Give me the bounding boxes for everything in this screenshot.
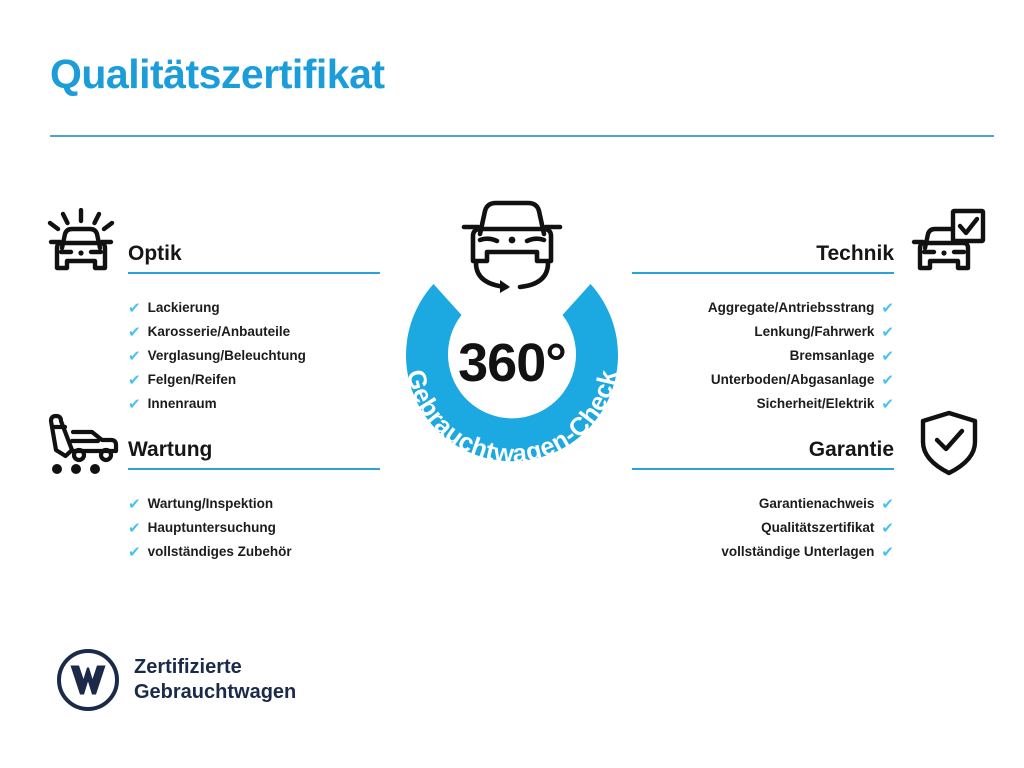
list-item-label: vollständiges Zubehör <box>148 540 292 564</box>
list-item: ✔Hauptuntersuchung <box>128 516 380 540</box>
check-icon: ✔ <box>881 545 894 560</box>
section-wartung: Wartung ✔Wartung/Inspektion ✔Hauptunters… <box>128 436 380 564</box>
check-icon: ✔ <box>881 497 894 512</box>
check-icon: ✔ <box>881 349 894 364</box>
check-icon: ✔ <box>881 397 894 412</box>
checklist-optik: ✔Lackierung ✔Karosserie/Anbauteile ✔Verg… <box>128 296 380 416</box>
list-item-label: vollständige Unterlagen <box>721 540 874 564</box>
list-item: ✔vollständiges Zubehör <box>128 540 380 564</box>
check-icon: ✔ <box>128 521 141 536</box>
list-item-label: Karosserie/Anbauteile <box>148 320 291 344</box>
list-item-label: Unterboden/Abgasanlage <box>711 368 875 392</box>
list-item: ✔Innenraum <box>128 392 380 416</box>
check-icon: ✔ <box>881 325 894 340</box>
badge-360-check: Gebrauchtwagen-Check 360° <box>378 192 646 484</box>
check-icon: ✔ <box>881 301 894 316</box>
list-item: ✔Wartung/Inspektion <box>128 492 380 516</box>
badge-value: 360° <box>378 332 646 394</box>
section-divider <box>632 272 894 274</box>
section-header: Technik <box>632 240 894 282</box>
section-divider <box>632 468 894 470</box>
check-icon: ✔ <box>128 373 141 388</box>
section-title: Technik <box>632 240 894 268</box>
section-title: Optik <box>128 240 380 268</box>
list-item: Garantienachweis✔ <box>632 492 894 516</box>
list-item-label: Innenraum <box>148 392 217 416</box>
page-title: Qualitätszertifikat <box>50 52 385 97</box>
vw-certified-label: Zertifizierte Gebrauchtwagen <box>134 655 296 705</box>
list-item: Aggregate/Antriebsstrang✔ <box>632 296 894 320</box>
list-item: Sicherheit/Elektrik✔ <box>632 392 894 416</box>
list-item: ✔Karosserie/Anbauteile <box>128 320 380 344</box>
check-icon: ✔ <box>128 301 141 316</box>
list-item-label: Bremsanlage <box>790 344 875 368</box>
section-title: Wartung <box>128 436 380 464</box>
header-divider <box>50 135 994 137</box>
list-item: Unterboden/Abgasanlage✔ <box>632 368 894 392</box>
section-divider <box>128 272 380 274</box>
check-icon: ✔ <box>128 325 141 340</box>
car-front-shine-icon <box>45 208 117 279</box>
list-item: vollständige Unterlagen✔ <box>632 540 894 564</box>
list-item: Qualitätszertifikat✔ <box>632 516 894 540</box>
checklist-wartung: ✔Wartung/Inspektion ✔Hauptuntersuchung ✔… <box>128 492 380 564</box>
list-item-label: Felgen/Reifen <box>148 368 237 392</box>
check-icon: ✔ <box>881 373 894 388</box>
vw-logo <box>56 648 120 712</box>
list-item: Bremsanlage✔ <box>632 344 894 368</box>
list-item: ✔Lackierung <box>128 296 380 320</box>
section-title: Garantie <box>632 436 894 464</box>
checklist-garantie: Garantienachweis✔ Qualitätszertifikat✔ v… <box>632 492 894 564</box>
section-header: Wartung <box>128 436 380 478</box>
list-item-label: Wartung/Inspektion <box>148 492 274 516</box>
list-item: ✔Verglasung/Beleuchtung <box>128 344 380 368</box>
shield-check-icon <box>918 410 980 481</box>
list-item-label: Sicherheit/Elektrik <box>757 392 875 416</box>
vw-certified-lockup: Zertifizierte Gebrauchtwagen <box>56 648 296 712</box>
section-optik: Optik ✔Lackierung ✔Karosserie/Anbauteile… <box>128 240 380 416</box>
check-icon: ✔ <box>128 397 141 412</box>
section-technik: Technik Aggregate/Antriebsstrang✔ Lenkun… <box>632 240 894 416</box>
list-item-label: Hauptuntersuchung <box>148 516 276 540</box>
list-item-label: Lackierung <box>148 296 220 320</box>
list-item: Lenkung/Fahrwerk✔ <box>632 320 894 344</box>
car-rotate-icon <box>454 192 570 296</box>
checklist-technik: Aggregate/Antriebsstrang✔ Lenkung/Fahrwe… <box>632 296 894 416</box>
check-icon: ✔ <box>128 545 141 560</box>
car-front-checkbox-icon <box>908 208 986 279</box>
list-item-label: Garantienachweis <box>759 492 875 516</box>
car-service-pencil-icon <box>45 412 119 481</box>
list-item: ✔Felgen/Reifen <box>128 368 380 392</box>
section-header: Garantie <box>632 436 894 478</box>
section-divider <box>128 468 380 470</box>
check-icon: ✔ <box>881 521 894 536</box>
list-item-label: Aggregate/Antriebsstrang <box>708 296 875 320</box>
section-header: Optik <box>128 240 380 282</box>
check-icon: ✔ <box>128 497 141 512</box>
list-item-label: Qualitätszertifikat <box>761 516 874 540</box>
list-item-label: Lenkung/Fahrwerk <box>754 320 874 344</box>
check-icon: ✔ <box>128 349 141 364</box>
section-garantie: Garantie Garantienachweis✔ Qualitätszert… <box>632 436 894 564</box>
list-item-label: Verglasung/Beleuchtung <box>148 344 306 368</box>
